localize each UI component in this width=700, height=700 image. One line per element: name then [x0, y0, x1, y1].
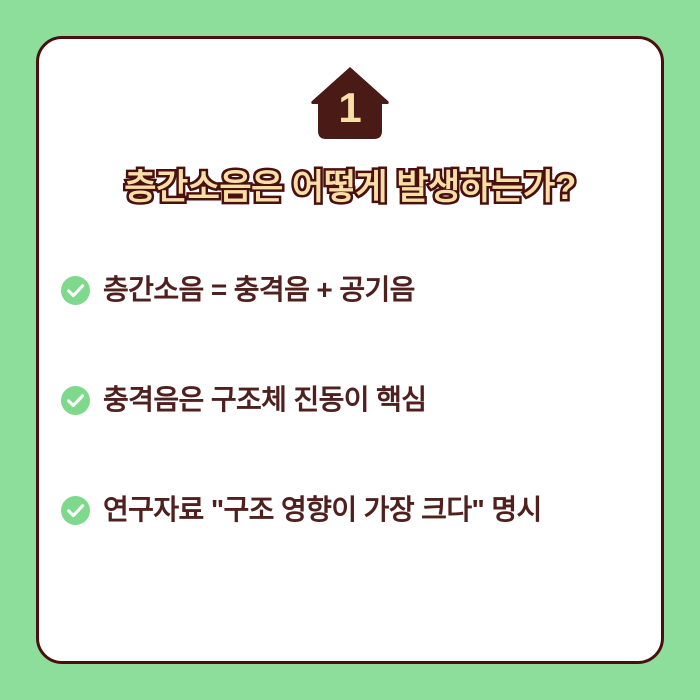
list-item-label: 연구자료 "구조 영향이 가장 크다" 명시	[103, 494, 542, 526]
list-item-label: 층간소음 = 충격음 + 공기음	[103, 274, 415, 306]
page-title-wrap: 층간소음은 어떻게 발생하는가?	[39, 159, 661, 210]
house-number-badge: 1	[310, 65, 390, 141]
list-item: 층간소음 = 충격음 + 공기음	[61, 235, 645, 345]
check-circle-icon	[61, 496, 90, 525]
bullet-list: 층간소음 = 충격음 + 공기음 충격음은 구조체 진동이 핵심	[61, 235, 645, 565]
list-item: 충격음은 구조체 진동이 핵심	[61, 345, 645, 455]
slide-canvas: 1 층간소음은 어떻게 발생하는가? 층간소음 = 충격음 + 공기음	[0, 0, 700, 700]
house-number-text: 1	[338, 84, 361, 131]
list-item: 연구자료 "구조 영향이 가장 크다" 명시	[61, 455, 645, 565]
house-icon: 1	[310, 65, 390, 141]
check-circle-icon	[61, 386, 90, 415]
check-circle-icon	[61, 276, 90, 305]
list-item-label: 충격음은 구조체 진동이 핵심	[103, 384, 426, 416]
page-title: 층간소음은 어떻게 발생하는가?	[124, 159, 575, 210]
content-card: 1 층간소음은 어떻게 발생하는가? 층간소음 = 충격음 + 공기음	[36, 36, 664, 664]
